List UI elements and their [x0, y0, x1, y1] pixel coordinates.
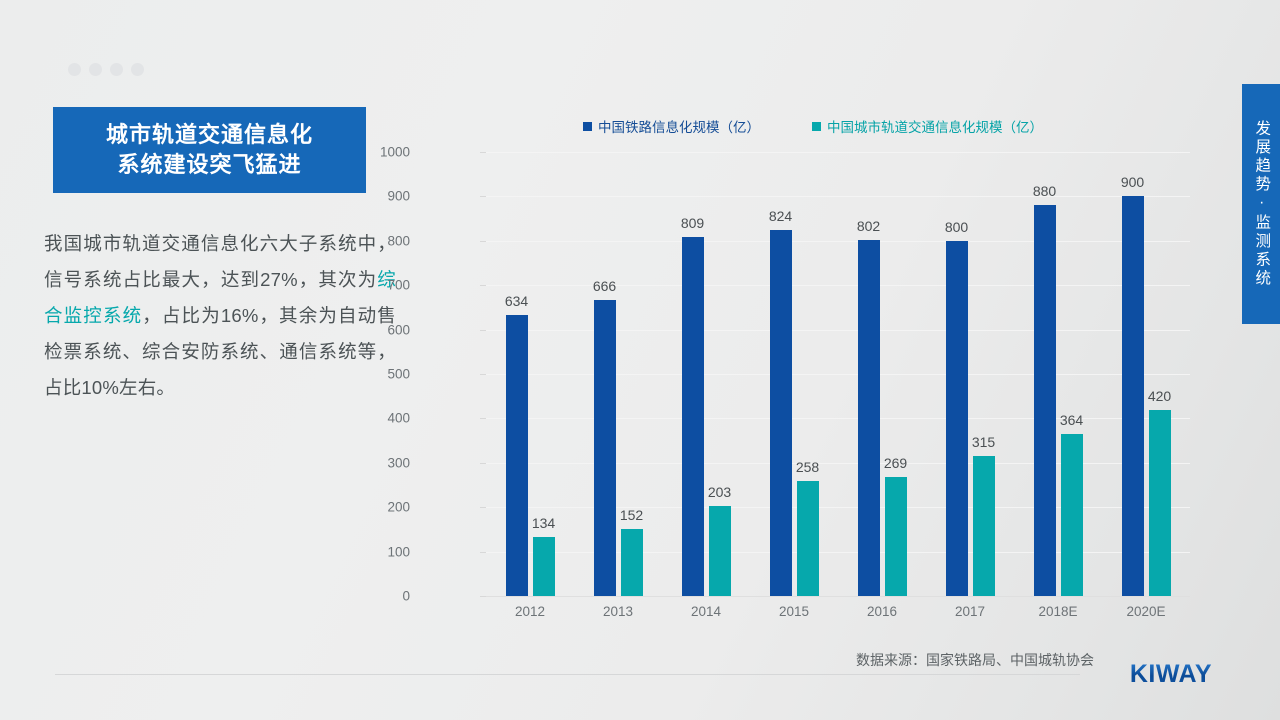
- body-text-part-1: 我国城市轨道交通信息化六大子系统中，信号系统占比最大，达到27%，其次为: [44, 233, 396, 290]
- bar-value-label: 824: [769, 208, 792, 224]
- x-axis-tick-label: 2017: [926, 604, 1014, 619]
- bar-group: 900420: [1102, 152, 1190, 596]
- y-axis-tick-label: 500: [366, 367, 410, 382]
- side-tab-section-label: 发展趋势·监测系统: [1242, 84, 1280, 324]
- y-axis-tick-label: 400: [366, 411, 410, 426]
- x-axis-tick-label: 2013: [574, 604, 662, 619]
- bar-series-2[interactable]: 315: [973, 456, 995, 596]
- x-axis-tick-label: 2014: [662, 604, 750, 619]
- y-axis-tick-label: 800: [366, 233, 410, 248]
- bar-series-1[interactable]: 634: [506, 315, 528, 596]
- bar-series-1[interactable]: 809: [682, 237, 704, 596]
- bar-value-label: 800: [945, 219, 968, 235]
- bar-value-label: 134: [532, 515, 555, 531]
- bar-series-1[interactable]: 802: [858, 240, 880, 596]
- x-axis-tick-label: 2016: [838, 604, 926, 619]
- y-axis-tick-label: 1000: [366, 145, 410, 160]
- x-axis-tick-label: 2020E: [1102, 604, 1190, 619]
- bar-value-label: 666: [593, 278, 616, 294]
- side-tab-text: 发展趋势·监测系统: [1250, 120, 1272, 288]
- bar-value-label: 364: [1060, 412, 1083, 428]
- bar-value-label: 315: [972, 434, 995, 450]
- decorative-dots: [68, 63, 144, 76]
- bar-value-label: 634: [505, 293, 528, 309]
- y-axis-tick-label: 900: [366, 189, 410, 204]
- bar-series-1[interactable]: 666: [594, 300, 616, 596]
- page-title-line-2: 系统建设突飞猛进: [117, 150, 301, 180]
- dot-icon: [89, 63, 102, 76]
- y-axis-labels: 01002003004005006007008009001000: [366, 152, 410, 596]
- bar-series-1[interactable]: 880: [1034, 205, 1056, 596]
- bar-series-2[interactable]: 134: [533, 537, 555, 596]
- legend-label-series-1: 中国铁路信息化规模（亿）: [598, 116, 760, 136]
- y-axis-tick-label: 0: [366, 589, 410, 604]
- bar-group: 880364: [1014, 152, 1102, 596]
- data-source-note: 数据来源：国家铁路局、中国城轨协会: [856, 650, 1094, 670]
- body-paragraph: 我国城市轨道交通信息化六大子系统中，信号系统占比最大，达到27%，其次为综合监控…: [44, 226, 396, 406]
- y-axis-tick-label: 300: [366, 455, 410, 470]
- kiway-logo: KIWAY: [1130, 660, 1212, 689]
- bar-value-label: 900: [1121, 174, 1144, 190]
- bar-series-1[interactable]: 824: [770, 230, 792, 596]
- bar-chart: 中国铁路信息化规模（亿） 中国城市轨道交通信息化规模（亿） 0100200300…: [418, 104, 1208, 624]
- bar-series-1[interactable]: 800: [946, 241, 968, 596]
- bar-value-label: 802: [857, 218, 880, 234]
- page-title-line-1: 城市轨道交通信息化: [106, 120, 313, 150]
- bar-value-label: 269: [884, 455, 907, 471]
- bar-value-label: 258: [796, 459, 819, 475]
- y-axis-tick-label: 200: [366, 500, 410, 515]
- bar-groups: 6341346661528092038242588022698003158803…: [486, 152, 1190, 596]
- legend-item-series-1: 中国铁路信息化规模（亿）: [583, 116, 760, 136]
- y-axis-tick-label: 600: [366, 322, 410, 337]
- x-axis-tick-label: 2015: [750, 604, 838, 619]
- legend-label-series-2: 中国城市轨道交通信息化规模（亿）: [827, 116, 1043, 136]
- dot-icon: [131, 63, 144, 76]
- bar-series-2[interactable]: 203: [709, 506, 731, 596]
- bar-value-label: 203: [708, 484, 731, 500]
- bar-series-2[interactable]: 152: [621, 529, 643, 596]
- x-axis-labels: 2012201320142015201620172018E2020E: [486, 604, 1190, 619]
- bar-group: 666152: [574, 152, 662, 596]
- x-axis-tick-label: 2012: [486, 604, 574, 619]
- plot-area: 6341346661528092038242588022698003158803…: [486, 152, 1190, 596]
- y-axis-tick-label: 100: [366, 544, 410, 559]
- legend-swatch-icon: [583, 122, 592, 131]
- legend-swatch-icon: [812, 122, 821, 131]
- legend-item-series-2: 中国城市轨道交通信息化规模（亿）: [812, 116, 1043, 136]
- bar-value-label: 420: [1148, 388, 1171, 404]
- bar-group: 800315: [926, 152, 1014, 596]
- bar-value-label: 880: [1033, 183, 1056, 199]
- chart-legend: 中国铁路信息化规模（亿） 中国城市轨道交通信息化规模（亿）: [418, 116, 1208, 136]
- bar-group: 802269: [838, 152, 926, 596]
- bar-group: 634134: [486, 152, 574, 596]
- bar-series-2[interactable]: 420: [1149, 410, 1171, 596]
- page-title: 城市轨道交通信息化 系统建设突飞猛进: [53, 107, 366, 193]
- bar-series-2[interactable]: 269: [885, 477, 907, 596]
- y-axis-tick-label: 700: [366, 278, 410, 293]
- bar-series-2[interactable]: 258: [797, 481, 819, 596]
- bar-value-label: 152: [620, 507, 643, 523]
- footer-divider: [55, 674, 1080, 675]
- bar-group: 809203: [662, 152, 750, 596]
- bar-value-label: 809: [681, 215, 704, 231]
- bar-group: 824258: [750, 152, 838, 596]
- bar-series-2[interactable]: 364: [1061, 434, 1083, 596]
- x-axis-tick-label: 2018E: [1014, 604, 1102, 619]
- dot-icon: [68, 63, 81, 76]
- bar-series-1[interactable]: 900: [1122, 196, 1144, 596]
- dot-icon: [110, 63, 123, 76]
- gridline: [486, 596, 1190, 597]
